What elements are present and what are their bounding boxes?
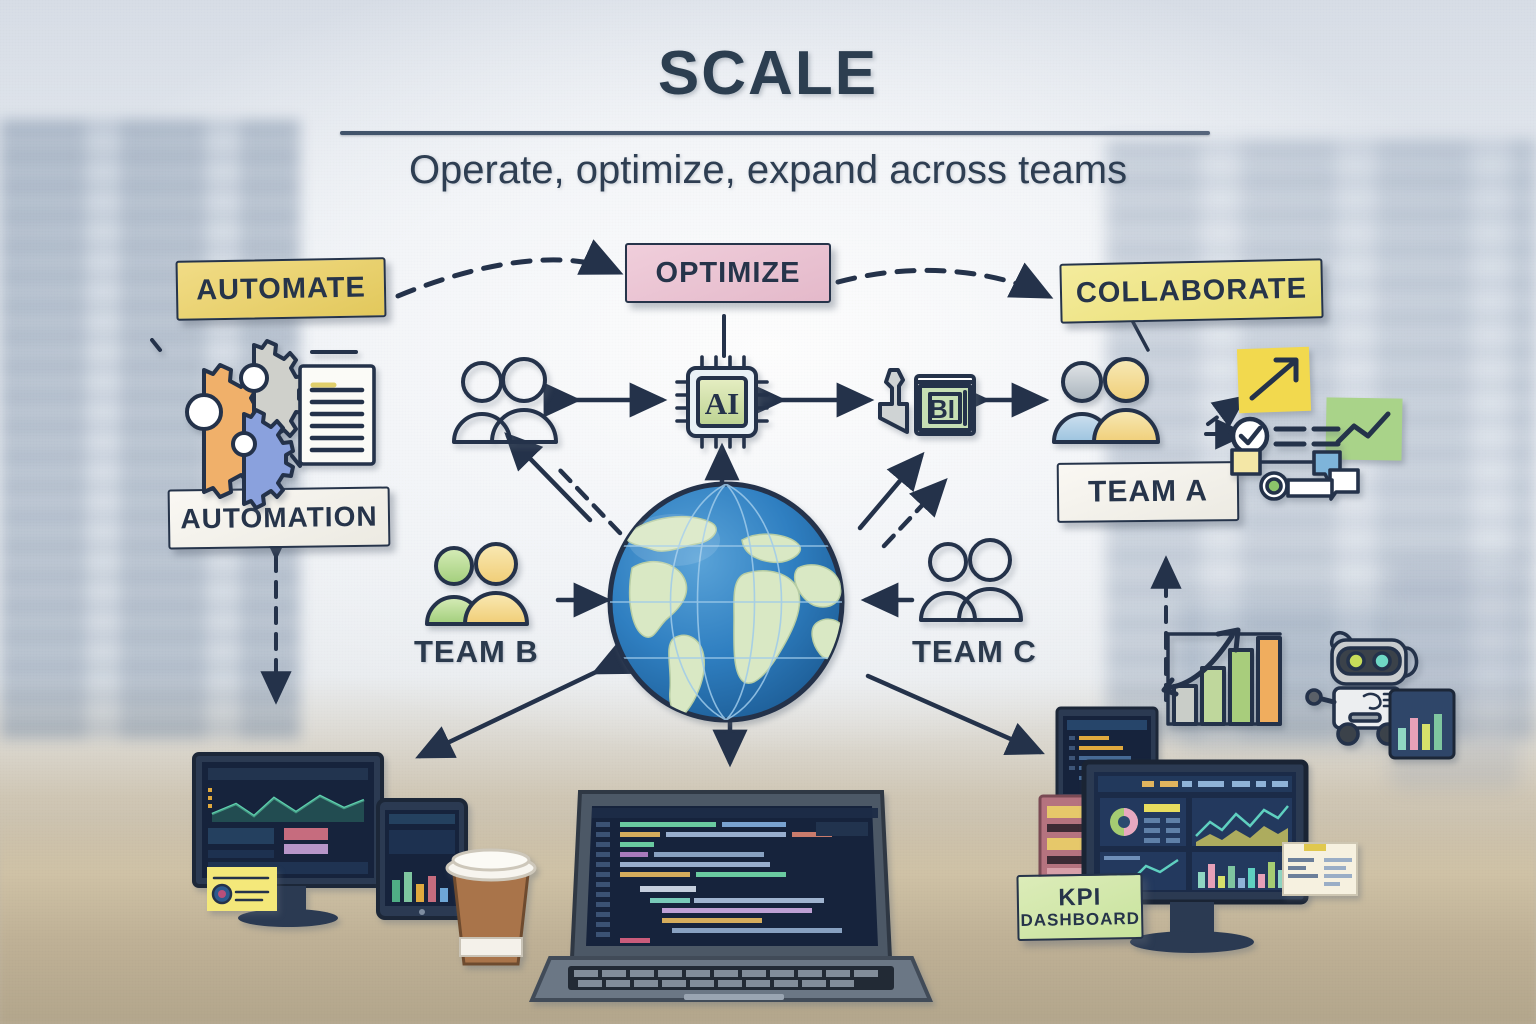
phase-label-text: OPTIMIZE xyxy=(656,257,801,290)
document-icon xyxy=(290,344,386,474)
phase-label-optimize[interactable]: OPTIMIZE xyxy=(625,243,831,303)
phase-label-text: AUTOMATE xyxy=(196,271,366,307)
people-icon-blue xyxy=(450,358,568,448)
bar-chart-icon xyxy=(1158,614,1288,742)
globe-icon xyxy=(592,482,860,722)
bi-icon: BI xyxy=(872,356,984,456)
phase-label-collaborate[interactable]: COLLABORATE xyxy=(1059,258,1323,323)
chat-bubbles-icon xyxy=(1230,446,1376,500)
card-text: TEAM A xyxy=(1088,474,1208,509)
ai-chip-icon: AI xyxy=(668,352,778,452)
ai-chip-label: AI xyxy=(705,386,739,421)
card-team-a[interactable]: TEAM A xyxy=(1057,461,1240,523)
card-text: AUTOMATION xyxy=(180,501,378,536)
people-icon-team-b xyxy=(424,544,550,630)
people-icon-team-a xyxy=(1050,358,1168,450)
sticky-note-growth-arrow xyxy=(1236,346,1314,418)
phase-label-text: COLLABORATE xyxy=(1076,272,1308,310)
infographic-canvas: SCALE Operate, optimize, expand across t… xyxy=(0,0,1536,1024)
phase-label-automate[interactable]: AUTOMATE xyxy=(175,257,386,321)
monitor-icon-left xyxy=(192,752,392,952)
monitor-icon-right xyxy=(1082,760,1312,980)
kpi-label-line1: KPI xyxy=(1058,885,1101,911)
note-card-icon xyxy=(1282,842,1360,898)
laptop-icon xyxy=(516,786,946,1024)
tablet-icon-small xyxy=(1388,688,1458,762)
team-c-caption: TEAM C xyxy=(912,634,1037,670)
sticky-note-sparkline xyxy=(206,866,280,914)
bi-icon-label: BI xyxy=(929,394,955,424)
kpi-dashboard-label[interactable]: KPI DASHBOARD xyxy=(1016,873,1143,941)
people-icon-team-c xyxy=(918,540,1044,626)
kpi-label-line2: DASHBOARD xyxy=(1020,910,1140,930)
team-b-caption: TEAM B xyxy=(414,634,539,670)
